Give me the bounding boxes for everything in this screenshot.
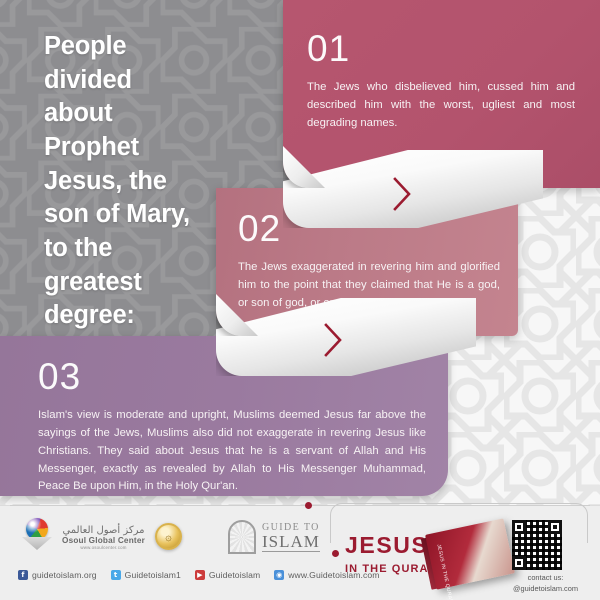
panel-01-text: The Jews who disbelieved him, cussed him…	[307, 79, 575, 133]
youtube-icon: ▶	[195, 570, 205, 580]
brand-dot-icon	[332, 550, 339, 557]
chevron-right-icon-1	[391, 176, 413, 212]
footer-connector-dot	[305, 502, 312, 509]
osoul-name: Osoul Global Center	[62, 536, 145, 545]
footer: مركز أصول العالمي Osoul Global Center ww…	[0, 505, 600, 600]
contact-label: contact us:	[498, 573, 593, 584]
globe-base	[22, 537, 52, 550]
panel-03-number: 03	[38, 358, 424, 395]
social-label-facebook: guidetoislam.org	[32, 570, 97, 580]
guide-logo-line2: ISLAM	[262, 533, 320, 552]
osoul-wordmark: مركز أصول العالمي Osoul Global Center ww…	[62, 525, 145, 550]
contact-handle: @guidetoislam.com	[498, 584, 593, 595]
facebook-icon: f	[18, 570, 28, 580]
chevron-right-icon-2	[322, 322, 344, 358]
social-label-youtube: Guidetoislam	[209, 570, 260, 580]
page-title: People divided about Prophet Jesus, the …	[44, 30, 274, 333]
osoul-url: www.osoulcenter.com	[80, 545, 126, 550]
osoul-globe-icon	[22, 518, 52, 550]
social-link-facebook[interactable]: f guidetoislam.org	[18, 570, 97, 580]
osoul-arabic: مركز أصول العالمي	[62, 525, 144, 536]
poster-canvas: People divided about Prophet Jesus, the …	[0, 0, 600, 600]
qr-code[interactable]	[512, 520, 562, 570]
gold-seal-icon: ۞	[155, 523, 182, 550]
panel-02-number: 02	[238, 210, 496, 247]
panel-03-text: Islam's view is moderate and upright, Mu…	[38, 407, 426, 496]
panel-01-number: 01	[307, 30, 572, 67]
qr-finder-bottom-left	[512, 556, 526, 570]
twitter-icon: t	[111, 570, 121, 580]
contact-info: contact us: @guidetoislam.com	[498, 573, 593, 594]
panel-01: 01 The Jews who disbelieved him, cussed …	[283, 0, 600, 188]
guide-logo-line1: GUIDE TO	[262, 523, 320, 533]
partner-logos: مركز أصول العالمي Osoul Global Center ww…	[22, 518, 182, 550]
social-link-twitter[interactable]: t Guidetoislam1	[111, 570, 181, 580]
brand-subtitle: IN THE QURAN	[345, 563, 438, 575]
panel-03: 03 Islam's view is moderate and upright,…	[0, 336, 448, 496]
globe-ball	[26, 518, 48, 540]
social-link-youtube[interactable]: ▶ Guidetoislam	[195, 570, 260, 580]
qr-finder-top-right	[548, 520, 562, 534]
mosque-arch-icon	[228, 520, 256, 554]
panel-02-text: The Jews exaggerated in revering him and…	[238, 259, 500, 313]
guide-to-islam-logo: GUIDE TO ISLAM	[228, 520, 320, 554]
social-links: f guidetoislam.org t Guidetoislam1 ▶ Gui…	[18, 570, 380, 580]
guide-to-islam-wordmark: GUIDE TO ISLAM	[262, 523, 320, 552]
website-icon: ◉	[274, 570, 284, 580]
social-label-twitter: Guidetoislam1	[125, 570, 181, 580]
qr-finder-top-left	[512, 520, 526, 534]
